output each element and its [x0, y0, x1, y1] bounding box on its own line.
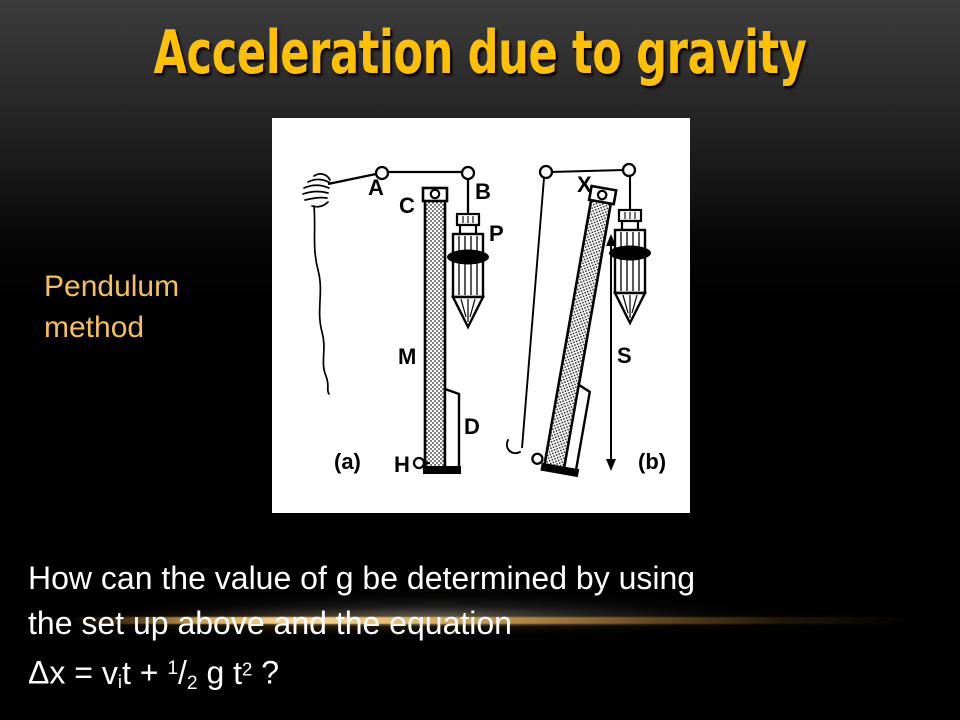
question-line-2: the set up above and the equation: [28, 601, 948, 646]
caption-line-2: method: [44, 307, 254, 348]
figure-label-M: M: [398, 344, 416, 369]
page-title: Acceleration due to gravity: [96, 22, 864, 84]
figure-label-A: A: [368, 175, 384, 200]
equation-term-vi: vit: [102, 655, 131, 691]
equation-half-fraction: 1/2: [167, 646, 197, 706]
equation-term-tsq: t2: [233, 655, 252, 691]
equation-line: Δx = vit + 1/2 g t2 ?: [28, 646, 948, 706]
figure-label-P: P: [489, 221, 504, 246]
figure-label-B: B: [475, 179, 491, 204]
figure-label-D: D: [464, 414, 480, 439]
figure-caption-a: (a): [334, 449, 361, 474]
apparatus-figure: A B C P M D H (a): [272, 118, 690, 513]
figure-label-X: X: [577, 172, 592, 197]
figure-label-H: H: [394, 452, 410, 477]
question-line-1: How can the value of g be determined by …: [28, 556, 948, 601]
pendulum-method-caption: Pendulum method: [44, 266, 254, 348]
question-text-block: How can the value of g be determined by …: [28, 556, 948, 706]
figure-label-C: C: [399, 193, 415, 218]
figure-label-S: S: [617, 343, 632, 368]
equation-question-mark: ?: [261, 655, 279, 691]
equation-equals: =: [74, 655, 93, 691]
figure-caption-b: (b): [638, 449, 666, 474]
slide-canvas: Acceleration due to gravity Pendulum met…: [0, 0, 960, 720]
equation-plus: +: [140, 655, 159, 691]
equation-lhs: Δx: [28, 655, 65, 691]
equation-term-g: g: [206, 655, 224, 691]
caption-line-1: Pendulum: [44, 266, 254, 307]
